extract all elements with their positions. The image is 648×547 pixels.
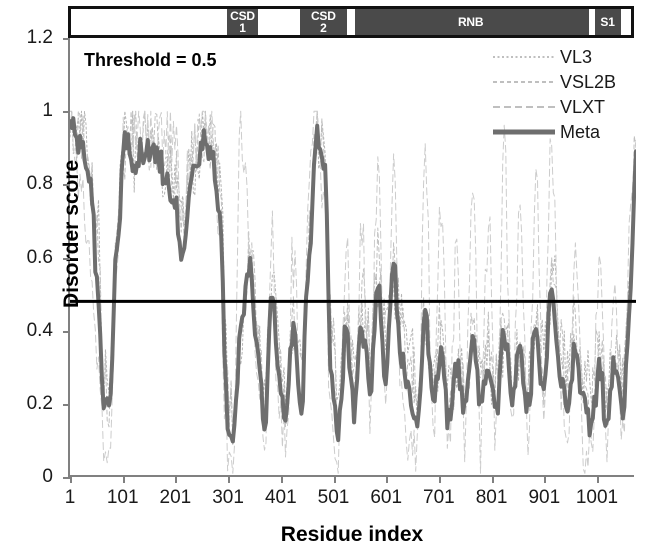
y-tick	[63, 331, 70, 333]
domain-box-csd2: CSD2	[300, 9, 347, 35]
x-tick-label: 201	[160, 487, 192, 509]
y-tick	[63, 111, 70, 113]
legend-swatch-meta	[493, 127, 555, 137]
y-tick	[63, 258, 70, 260]
y-tick-label: 0.8	[27, 173, 53, 195]
domain-label: RNB	[458, 16, 483, 28]
disorder-score-chart-figure: CSD1CSD2RNBS1 Threshold = 0.5 VL3VSL2BVL…	[0, 0, 648, 539]
legend-item-vsl2b: VSL2B	[493, 71, 616, 93]
legend-item-vl3: VL3	[493, 46, 616, 68]
y-axis-title: Disorder score	[60, 160, 84, 308]
y-tick	[63, 184, 70, 186]
x-axis-title: Residue index	[70, 523, 634, 547]
x-tick-label: 701	[423, 487, 455, 509]
y-tick-label: 1.2	[27, 27, 53, 49]
legend-item-meta: Meta	[493, 121, 616, 143]
domain-label: S1	[600, 16, 614, 28]
plot-area: Threshold = 0.5 VL3VSL2BVLXTMeta Residue…	[68, 38, 634, 477]
x-tick-label: 501	[318, 487, 350, 509]
x-tick	[228, 475, 230, 483]
domain-box-csd1: CSD1	[227, 9, 258, 35]
x-tick-label: 601	[370, 487, 402, 509]
y-tick-label: 0	[42, 466, 53, 488]
legend-label: VL3	[560, 47, 592, 68]
y-tick-label: 0.6	[27, 247, 53, 269]
legend-label: VLXT	[560, 97, 605, 118]
x-tick-label: 901	[528, 487, 560, 509]
legend-label: VSL2B	[560, 72, 616, 93]
x-tick-label: 101	[107, 487, 139, 509]
legend-swatch-vl3	[493, 52, 555, 62]
y-tick	[63, 404, 70, 406]
y-tick	[63, 38, 70, 40]
x-tick	[334, 475, 336, 483]
domain-box-rnb: RNB	[352, 9, 589, 35]
x-tick	[123, 475, 125, 483]
x-tick-label: 1001	[576, 487, 618, 509]
y-tick-label: 0.2	[27, 393, 53, 415]
legend-swatch-vlxt	[493, 102, 555, 112]
domain-separator	[589, 9, 592, 35]
threshold-annotation: Threshold = 0.5	[84, 50, 217, 71]
legend-label: Meta	[560, 122, 600, 143]
x-tick-label: 401	[265, 487, 297, 509]
legend-item-vlxt: VLXT	[493, 96, 616, 118]
x-tick	[439, 475, 441, 483]
x-tick	[492, 475, 494, 483]
x-tick	[597, 475, 599, 483]
x-tick-label: 301	[212, 487, 244, 509]
domain-separator	[352, 9, 355, 35]
chart-legend: VL3VSL2BVLXTMeta	[493, 46, 616, 143]
domain-label: 2	[320, 22, 326, 34]
x-tick	[386, 475, 388, 483]
x-tick	[175, 475, 177, 483]
x-tick	[544, 475, 546, 483]
x-tick-label: 801	[476, 487, 508, 509]
x-tick	[70, 475, 72, 483]
legend-swatch-vsl2b	[493, 77, 555, 87]
x-tick	[281, 475, 283, 483]
y-tick-label: 1	[42, 100, 53, 122]
x-tick-label: 1	[65, 487, 76, 509]
y-tick-label: 0.4	[27, 320, 53, 342]
y-tick	[63, 477, 70, 479]
domain-box-s1: S1	[595, 9, 621, 35]
domain-architecture-bar: CSD1CSD2RNBS1	[68, 6, 634, 38]
domain-label: 1	[239, 22, 245, 34]
